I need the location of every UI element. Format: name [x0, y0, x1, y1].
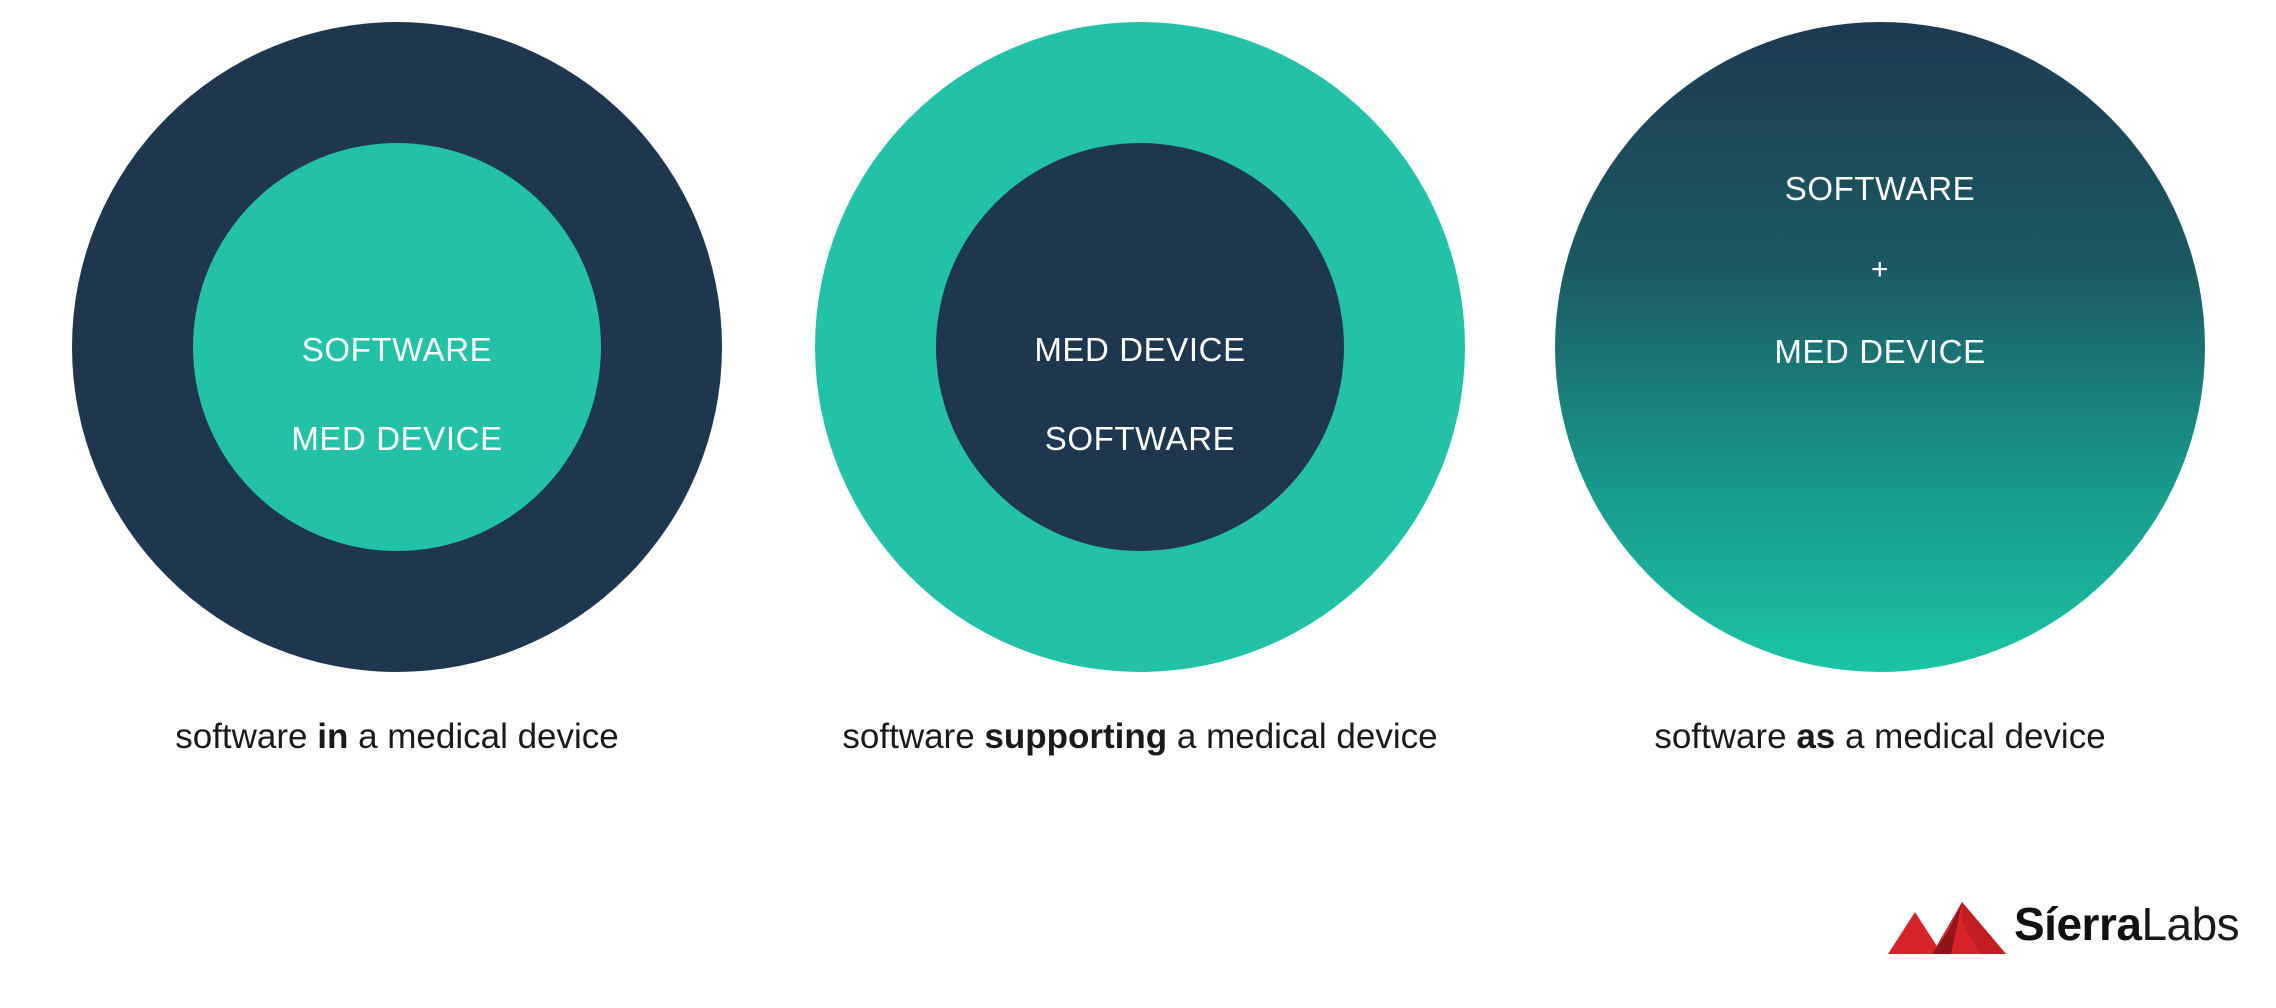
caption-part-after: a medical device	[348, 717, 618, 756]
diagram-canvas: SOFTWARE MED DEVICE software in a medica…	[0, 0, 2276, 1008]
caption-part-after: a medical device	[1835, 717, 2105, 756]
outer-circle-software: MED DEVICE SOFTWARE	[815, 22, 1465, 672]
caption-part-before: software	[842, 717, 984, 756]
inner-circle-label: SOFTWARE	[72, 333, 722, 366]
concept-caption: software as a medical device	[1515, 716, 2245, 759]
outer-circle-med-device: SOFTWARE MED DEVICE	[72, 22, 722, 672]
outer-circle-label: SOFTWARE	[815, 422, 1465, 455]
caption-part-after: a medical device	[1167, 717, 1437, 756]
caption-part-before: software	[175, 717, 317, 756]
stack-label-plus: +	[1555, 255, 2205, 285]
wordmark-labs: Labs	[2141, 898, 2239, 950]
stack-label-med-device: MED DEVICE	[1555, 335, 2205, 368]
caption-part-bold: as	[1796, 717, 1835, 756]
concept-caption: software supporting a medical device	[775, 716, 1505, 759]
sierra-labs-logo: SíerraLabs	[1888, 890, 2238, 962]
concept-software-as-device: SOFTWARE + MED DEVICE software as a medi…	[1555, 22, 2205, 882]
concept-software-in-device: SOFTWARE MED DEVICE software in a medica…	[72, 22, 722, 882]
stack-label-software: SOFTWARE	[1555, 172, 2205, 205]
caption-part-bold: supporting	[984, 717, 1167, 756]
gradient-circle-software-plus-med-device: SOFTWARE + MED DEVICE	[1555, 22, 2205, 672]
wordmark-sierra: Síerra	[2014, 898, 2141, 950]
mountain-peaks-icon	[1888, 896, 2006, 956]
concept-caption: software in a medical device	[32, 716, 762, 759]
inner-circle-label: MED DEVICE	[815, 333, 1465, 366]
sierra-labs-wordmark: SíerraLabs	[2014, 901, 2239, 947]
concept-software-supporting-device: MED DEVICE SOFTWARE software supporting …	[815, 22, 1465, 882]
caption-part-before: software	[1654, 717, 1796, 756]
caption-part-bold: in	[317, 717, 348, 756]
outer-circle-label: MED DEVICE	[72, 422, 722, 455]
stacked-labels: SOFTWARE + MED DEVICE	[1555, 172, 2205, 368]
